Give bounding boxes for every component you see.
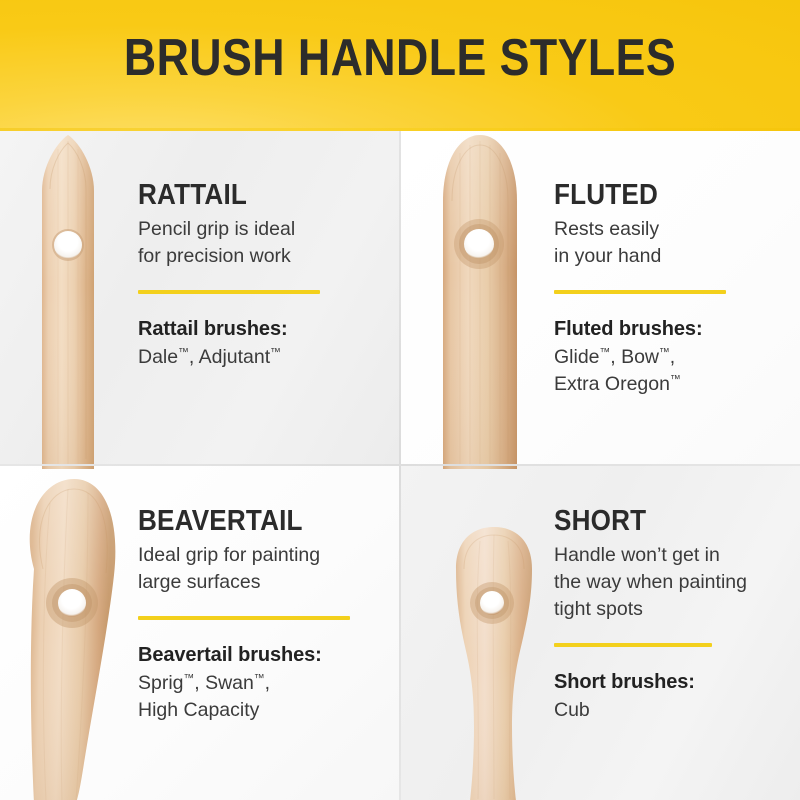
fluted-brushes-list: Glide™, Bow™, Extra Oregon™ [554,344,790,398]
fluted-brushes-line-2: Extra Oregon™ [554,373,681,395]
brush-handle-styles-infographic: BRUSH HANDLE STYLES [0,0,800,800]
beavertail-description-line-1: Ideal grip for painting [138,544,320,566]
rattail-brushes-label: Rattail brushes: [138,316,374,342]
rattail-style-name: RATTAIL [138,179,350,211]
short-accent-rule [554,643,712,647]
short-description-line-2: the way when painting [554,571,747,593]
fluted-description-line-1: Rests easily [554,218,659,240]
rattail-brushes-list: Dale™, Adjutant™ [138,344,374,371]
beavertail-accent-rule [138,616,350,620]
fluted-brushes-line-1: Glide™, Bow™, [554,346,675,368]
short-brushes-list: Cub [554,697,798,724]
short-style-name: SHORT [554,505,774,537]
page-title: BRUSH HANDLE STYLES [56,28,744,88]
quadrant-grid: RATTAIL Pencil grip is ideal for precisi… [0,131,800,800]
horizontal-divider [0,464,800,466]
header-banner: BRUSH HANDLE STYLES [0,0,800,131]
short-brushes-line-1: Cub [554,699,590,721]
beavertail-text-block: BEAVERTAIL Ideal grip for painting large… [138,505,388,724]
rattail-description-line-2: for precision work [138,245,291,267]
rattail-brushes-line-1: Dale™, Adjutant™ [138,346,281,368]
fluted-brushes-label: Fluted brushes: [554,316,790,342]
short-description-line-3: tight spots [554,598,643,620]
short-text-block: SHORT Handle won’t get in the way when p… [554,505,798,724]
beavertail-brushes-list: Sprig™, Swan™, High Capacity [138,670,388,724]
rattail-text-block: RATTAIL Pencil grip is ideal for precisi… [138,179,374,371]
rattail-description: Pencil grip is ideal for precision work [138,216,374,270]
fluted-handle-image [425,127,535,469]
beavertail-handle-image [0,463,158,800]
fluted-description: Rests easily in your hand [554,216,790,270]
beavertail-description: Ideal grip for painting large surfaces [138,542,388,596]
fluted-description-line-2: in your hand [554,245,661,267]
beavertail-brushes-label: Beavertail brushes: [138,642,388,668]
fluted-accent-rule [554,290,726,294]
beavertail-brushes-line-2: High Capacity [138,699,259,721]
beavertail-description-line-2: large surfaces [138,571,260,593]
rattail-handle-image [28,129,128,469]
rattail-accent-rule [138,290,320,294]
short-handle-image [430,521,560,800]
short-description-line-1: Handle won’t get in [554,544,720,566]
rattail-description-line-1: Pencil grip is ideal [138,218,295,240]
fluted-style-name: FLUTED [554,179,766,211]
short-description: Handle won’t get in the way when paintin… [554,542,798,623]
short-brushes-label: Short brushes: [554,669,798,695]
fluted-text-block: FLUTED Rests easily in your hand Fluted … [554,179,790,398]
beavertail-style-name: BEAVERTAIL [138,505,363,537]
beavertail-brushes-line-1: Sprig™, Swan™, [138,672,270,694]
